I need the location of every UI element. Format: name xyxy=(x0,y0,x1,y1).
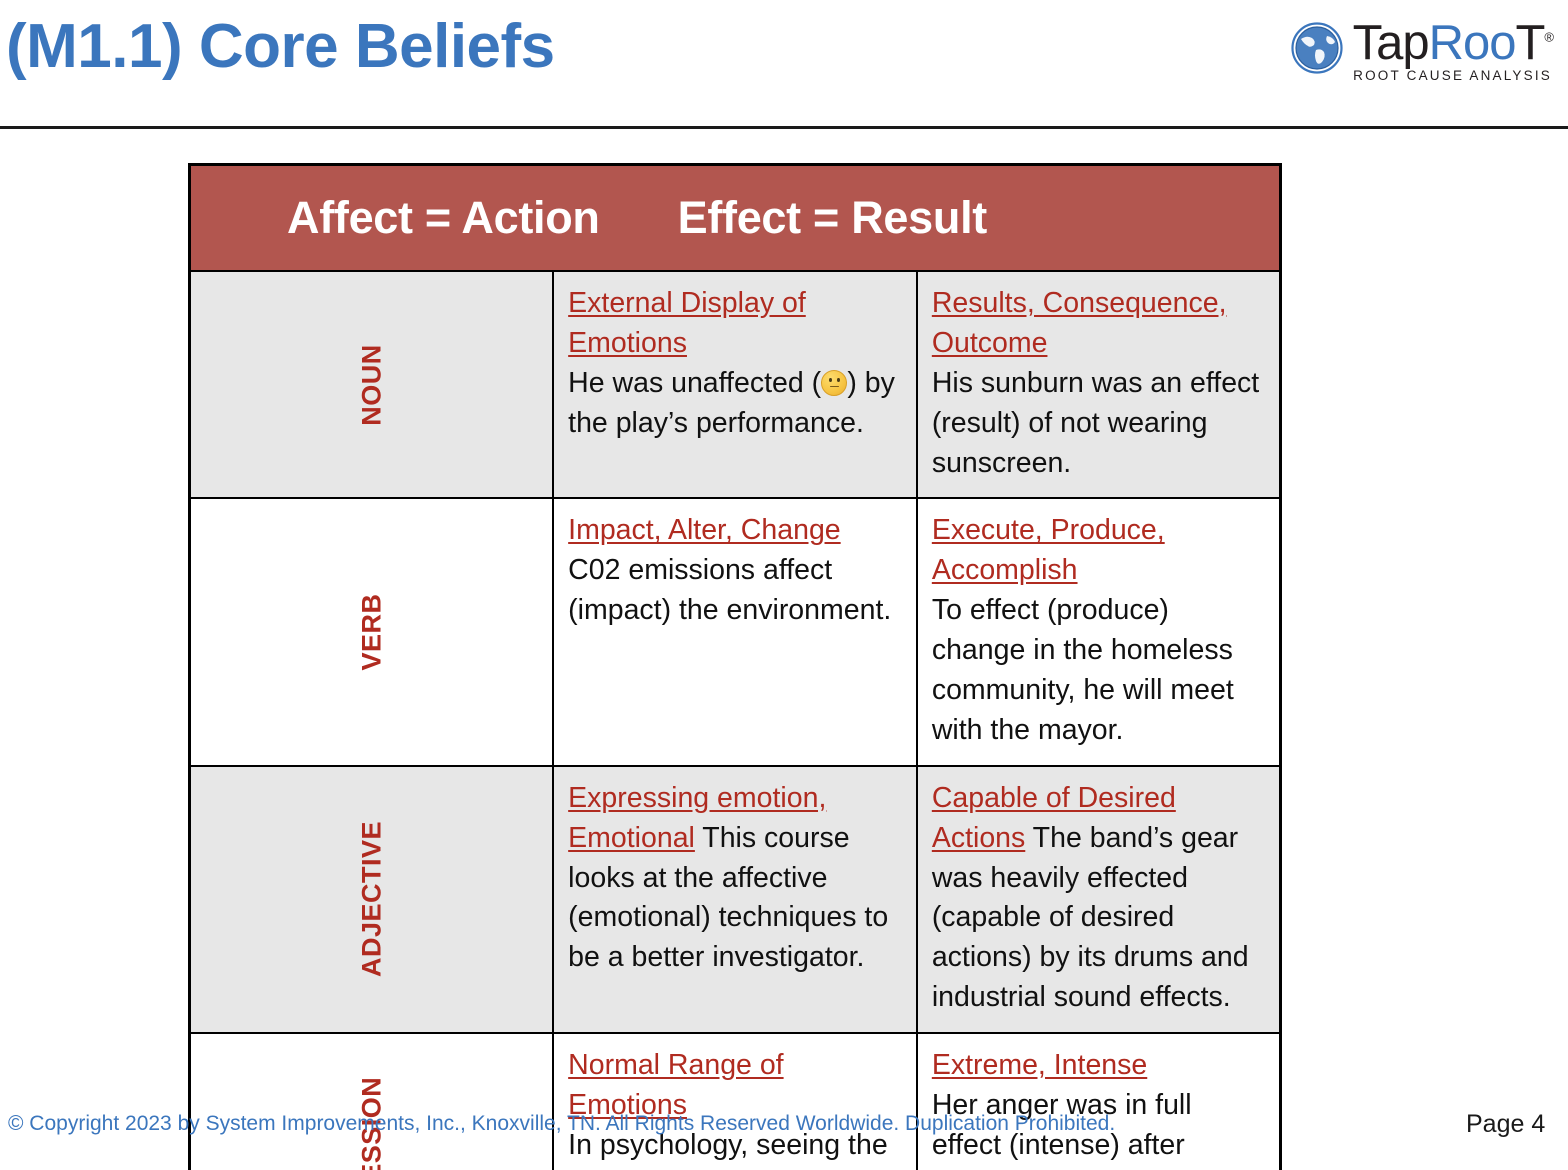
affect-lead: External Display of Emotions xyxy=(568,287,806,359)
effect-cell-noun: Results, Consequence, Outcome His sunbur… xyxy=(917,271,1281,498)
affect-cell-adjective: Expressing emotion, Emotional This cours… xyxy=(553,766,917,1033)
table-header-row: Affect = Action Effect = Result xyxy=(190,165,1281,272)
title-divider xyxy=(0,126,1568,129)
affect-body-before: He was unaffected ( xyxy=(568,367,821,399)
category-cell-noun: NOUN xyxy=(190,271,554,498)
affect-body: C02 emissions affect (impact) the enviro… xyxy=(568,554,891,626)
affect-lead: Impact, Alter, Change xyxy=(568,514,841,546)
category-label: ADJECTIVE xyxy=(356,821,387,977)
effect-lead: Execute, Produce, Accomplish xyxy=(932,514,1165,586)
table-row: NOUN External Display of Emotions He was… xyxy=(190,271,1281,498)
effect-cell-adjective: Capable of Desired Actions The band’s ge… xyxy=(917,766,1281,1033)
affect-effect-table: Affect = Action Effect = Result NOUN Ext… xyxy=(188,163,1282,1170)
slide: (M1.1) Core Beliefs TapRooT® ROOT CAUSE … xyxy=(0,0,1568,1170)
effect-lead: Extreme, Intense xyxy=(932,1049,1147,1081)
effect-cell-verb: Execute, Produce, Accomplish To effect (… xyxy=(917,498,1281,765)
category-label: VERB xyxy=(356,594,387,671)
effect-lead: Results, Consequence, Outcome xyxy=(932,287,1227,359)
affect-lead: Normal Range of Emotions xyxy=(568,1049,783,1121)
table-row: VERB Impact, Alter, Change C02 emissions… xyxy=(190,498,1281,765)
category-cell-verb: VERB xyxy=(190,498,554,765)
page-title: (M1.1) Core Beliefs xyxy=(6,14,555,79)
header-effect-result: Effect = Result xyxy=(678,192,987,244)
affect-cell-expression: Normal Range of Emotions In psychology, … xyxy=(553,1033,917,1170)
registered-mark: ® xyxy=(1544,30,1554,45)
logo-part-t: T xyxy=(1515,16,1544,70)
globe-icon xyxy=(1291,22,1343,74)
logo-part-roo: Roo xyxy=(1429,16,1516,70)
logo-tagline: ROOT CAUSE ANALYSIS xyxy=(1353,68,1554,83)
taproot-logo: TapRooT® ROOT CAUSE ANALYSIS xyxy=(1291,18,1554,83)
page-number: Page 4 xyxy=(1466,1110,1545,1139)
effect-body: To effect (produce) change in the homele… xyxy=(932,594,1234,746)
copyright-notice: © Copyright 2023 by System Improvements,… xyxy=(8,1112,1115,1136)
category-cell-expression: EXPRESSION xyxy=(190,1033,554,1170)
effect-body: His sunburn was an effect (result) of no… xyxy=(932,367,1259,479)
table-row: EXPRESSION Normal Range of Emotions In p… xyxy=(190,1033,1281,1170)
affect-cell-verb: Impact, Alter, Change C02 emissions affe… xyxy=(553,498,917,765)
logo-wordmark: TapRooT® xyxy=(1353,20,1554,67)
table-header-cell: Affect = Action Effect = Result xyxy=(190,165,1281,272)
logo-part-tap: Tap xyxy=(1353,16,1429,70)
category-label: NOUN xyxy=(356,344,387,426)
neutral-face-emoji xyxy=(821,370,847,396)
table-row: ADJECTIVE Expressing emotion, Emotional … xyxy=(190,766,1281,1033)
category-cell-adjective: ADJECTIVE xyxy=(190,766,554,1033)
header-affect-action: Affect = Action xyxy=(287,192,600,244)
effect-cell-expression: Extreme, Intense Her anger was in full e… xyxy=(917,1033,1281,1170)
affect-cell-noun: External Display of Emotions He was unaf… xyxy=(553,271,917,498)
